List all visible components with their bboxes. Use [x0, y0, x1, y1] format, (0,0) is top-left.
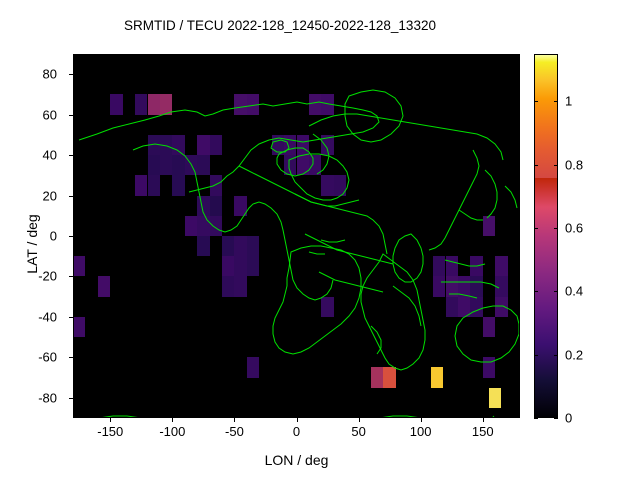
- x-tick-label: 100: [410, 424, 432, 439]
- y-tick-mark: [69, 236, 73, 237]
- x-tick-mark: [359, 418, 360, 422]
- y-tick-label: 60: [43, 107, 57, 122]
- colorbar-tick-mark: [534, 291, 538, 292]
- coastline-overlay: [73, 54, 520, 418]
- colorbar-tick-mark: [534, 165, 538, 166]
- x-tick-mark: [483, 418, 484, 422]
- y-tick-label: -80: [38, 390, 57, 405]
- x-tick-mark: [297, 418, 298, 422]
- colorbar-tick-mark: [554, 291, 558, 292]
- colorbar-tick-label: 0.6: [565, 221, 583, 236]
- colorbar-tick-mark: [534, 355, 538, 356]
- x-tick-mark: [110, 418, 111, 422]
- colorbar-tick-label: 0.8: [565, 157, 583, 172]
- colorbar-tick-mark: [554, 355, 558, 356]
- x-tick-label: 50: [351, 424, 365, 439]
- y-axis-label: LAT / deg: [24, 174, 40, 314]
- colorbar-tick-label: 0: [565, 411, 572, 426]
- y-tick-label: -40: [38, 309, 57, 324]
- chart-title: SRMTID / TECU 2022-128_12450-2022-128_13…: [0, 18, 560, 33]
- colorbar-tick-mark: [554, 228, 558, 229]
- colorbar-tick-mark: [534, 101, 538, 102]
- x-tick-label: -100: [159, 424, 185, 439]
- x-tick-mark: [421, 418, 422, 422]
- y-tick-label: 20: [43, 188, 57, 203]
- x-tick-label: -150: [97, 424, 123, 439]
- y-tick-mark: [69, 155, 73, 156]
- colorbar-tick-mark: [554, 418, 558, 419]
- colorbar-tick-mark: [554, 101, 558, 102]
- x-axis-label: LON / deg: [73, 452, 520, 468]
- map-plot-area[interactable]: [73, 54, 520, 418]
- colorbar-tick-label: 0.2: [565, 347, 583, 362]
- figure-canvas: SRMTID / TECU 2022-128_12450-2022-128_13…: [0, 0, 640, 480]
- coastline-paths: [73, 90, 520, 418]
- y-tick-label: 0: [50, 229, 57, 244]
- colorbar-tick-mark: [534, 418, 538, 419]
- colorbar-tick-label: 1: [565, 94, 572, 109]
- y-tick-mark: [69, 357, 73, 358]
- y-tick-label: 40: [43, 148, 57, 163]
- colorbar-tick-mark: [554, 165, 558, 166]
- x-tick-mark: [234, 418, 235, 422]
- colorbar-frame[interactable]: [534, 54, 558, 418]
- x-tick-label: 0: [293, 424, 300, 439]
- y-tick-label: -20: [38, 269, 57, 284]
- x-tick-label: -50: [225, 424, 244, 439]
- y-tick-mark: [69, 317, 73, 318]
- colorbar-tick-mark: [534, 228, 538, 229]
- y-tick-mark: [69, 115, 73, 116]
- x-tick-mark: [172, 418, 173, 422]
- y-tick-label: 80: [43, 67, 57, 82]
- y-tick-label: -60: [38, 350, 57, 365]
- y-tick-mark: [69, 276, 73, 277]
- colorbar-tick-label: 0.4: [565, 284, 583, 299]
- y-tick-mark: [69, 398, 73, 399]
- y-tick-mark: [69, 74, 73, 75]
- y-tick-mark: [69, 196, 73, 197]
- x-tick-label: 150: [472, 424, 494, 439]
